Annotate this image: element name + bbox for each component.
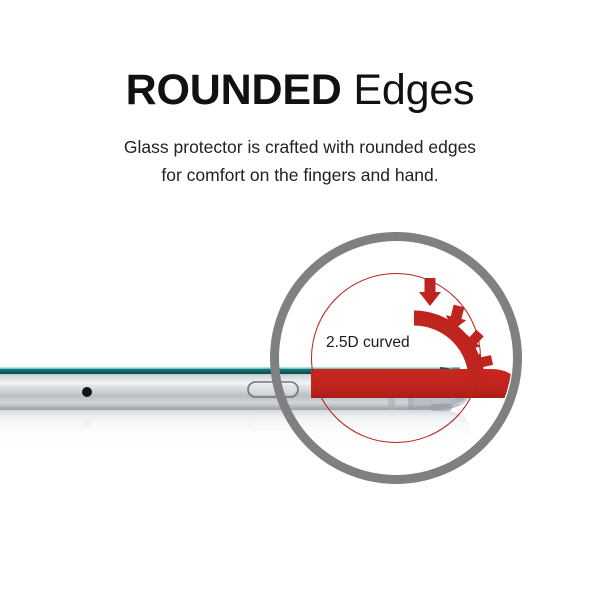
page-subtitle-line-1: Glass protector is crafted with rounded … [0,133,600,161]
page-subtitle: Glass protector is crafted with rounded … [0,133,600,189]
page-title-emphasis: ROUNDED [126,66,342,114]
magnifier-ring [270,232,522,484]
product-feature-graphic: ROUNDED Edges Glass protector is crafted… [0,0,600,600]
page-title-rest: Edges [342,66,475,114]
microphone-hole [82,387,92,397]
page-subtitle-line-2: for comfort on the fingers and hand. [0,161,600,189]
magnifier-callout: 2.5D curved [264,226,526,488]
page-title: ROUNDED Edges [0,68,600,113]
